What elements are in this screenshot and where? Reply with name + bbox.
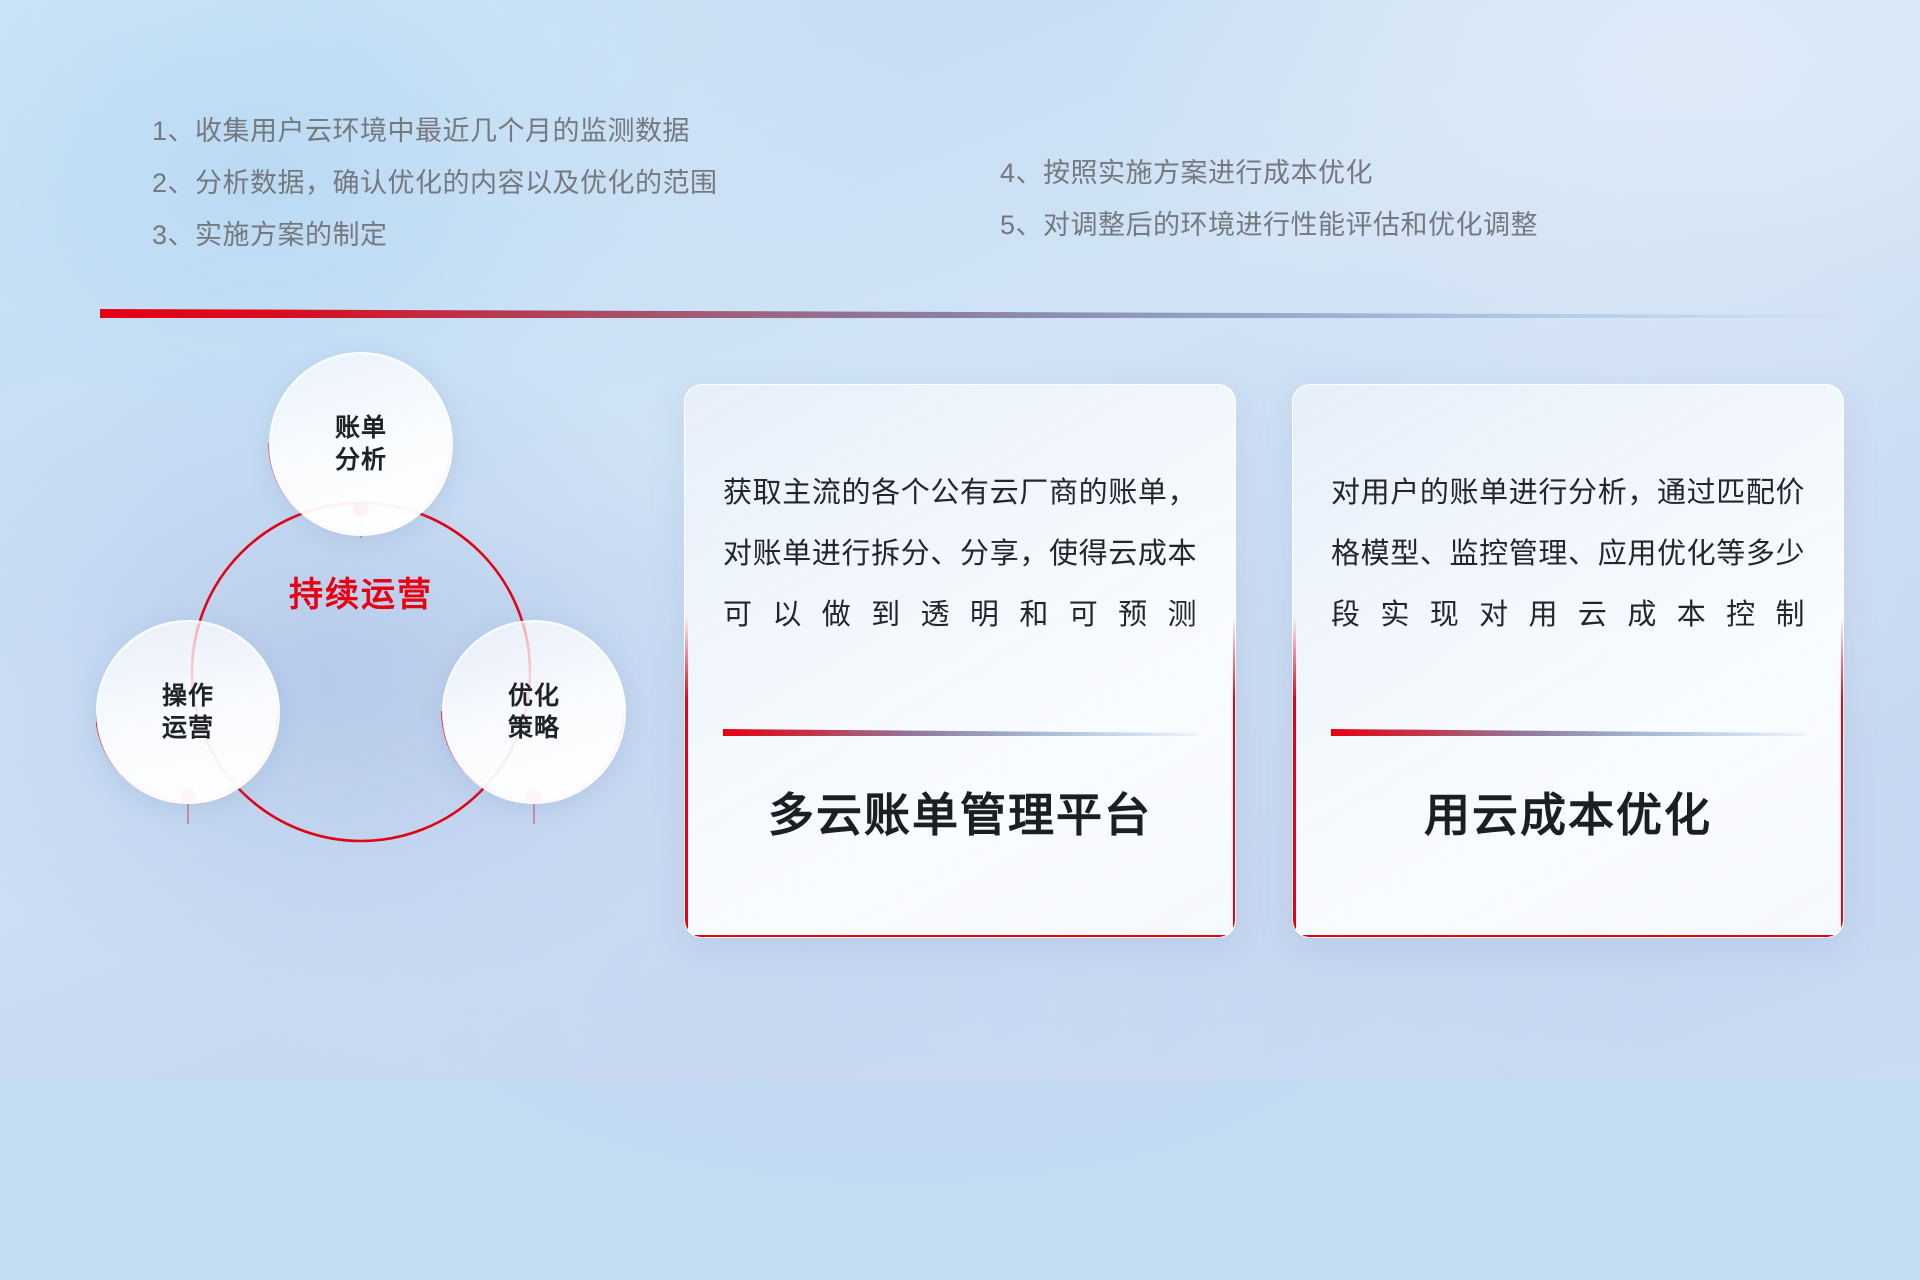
card-cloud-cost-optimization[interactable]: 对用户的账单进行分析，通过匹配价格模型、监控管理、应用优化等多少段实现对用云成本… (1292, 384, 1844, 938)
venn-circle-optimization-strategy[interactable]: 优化 策略 (442, 620, 626, 804)
card-rule (723, 725, 1197, 735)
bullet-item-2: 2、分析数据，确认优化的内容以及优化的范围 (152, 170, 718, 197)
bullet-item-5: 5、对调整后的环境进行性能评估和优化调整 (1000, 212, 1538, 239)
bullet-item-4: 4、按照实施方案进行成本优化 (1000, 160, 1538, 187)
card-rule (1331, 725, 1805, 735)
card-accent-left (1293, 617, 1296, 937)
venn-circle-operations[interactable]: 操作 运营 (96, 620, 280, 804)
card-body-text: 获取主流的各个公有云厂商的账单，对账单进行拆分、分享，使得云成本可以做到透明和可… (723, 463, 1197, 646)
card-accent-right (1233, 617, 1236, 937)
card-rule-shape (723, 728, 1197, 738)
card-multicloud-billing-platform[interactable]: 获取主流的各个公有云厂商的账单，对账单进行拆分、分享，使得云成本可以做到透明和可… (684, 384, 1236, 938)
bullet-item-1: 1、收集用户云环境中最近几个月的监测数据 (152, 118, 718, 145)
card-accent-right (1841, 617, 1844, 937)
card-accent-bottom (685, 935, 1235, 938)
venn-circle-operations-line2: 运营 (162, 712, 214, 744)
card-body-text: 对用户的账单进行分析，通过匹配价格模型、监控管理、应用优化等多少段实现对用云成本… (1331, 463, 1805, 646)
venn-circle-billing-analysis[interactable]: 账单 分析 (269, 352, 453, 536)
section-divider (100, 306, 1842, 320)
venn-center-label: 持续运营 (263, 574, 459, 617)
bullet-column-left: 1、收集用户云环境中最近几个月的监测数据 2、分析数据，确认优化的内容以及优化的… (152, 118, 718, 274)
venn-circle-operations-line1: 操作 (162, 680, 214, 712)
section-divider-shape (100, 306, 1842, 320)
bullet-column-right: 4、按照实施方案进行成本优化 5、对调整后的环境进行性能评估和优化调整 (1000, 160, 1538, 264)
card-title: 用云成本优化 (1331, 779, 1805, 845)
card-rule-shape (1331, 728, 1805, 738)
venn-circle-optimization-strategy-line2: 策略 (508, 712, 560, 744)
card-title: 多云账单管理平台 (723, 779, 1197, 845)
card-accent-left (685, 617, 688, 937)
card-region: 获取主流的各个公有云厂商的账单，对账单进行拆分、分享，使得云成本可以做到透明和可… (684, 384, 1844, 936)
venn-circle-billing-analysis-line1: 账单 (335, 412, 387, 444)
venn-diagram: 账单 分析 操作 运营 优化 策略 持续运营 (96, 352, 666, 952)
venn-circle-optimization-strategy-line1: 优化 (508, 680, 560, 712)
bullet-item-3: 3、实施方案的制定 (152, 222, 718, 249)
venn-circle-billing-analysis-line2: 分析 (335, 444, 387, 476)
card-accent-bottom (1293, 935, 1843, 938)
